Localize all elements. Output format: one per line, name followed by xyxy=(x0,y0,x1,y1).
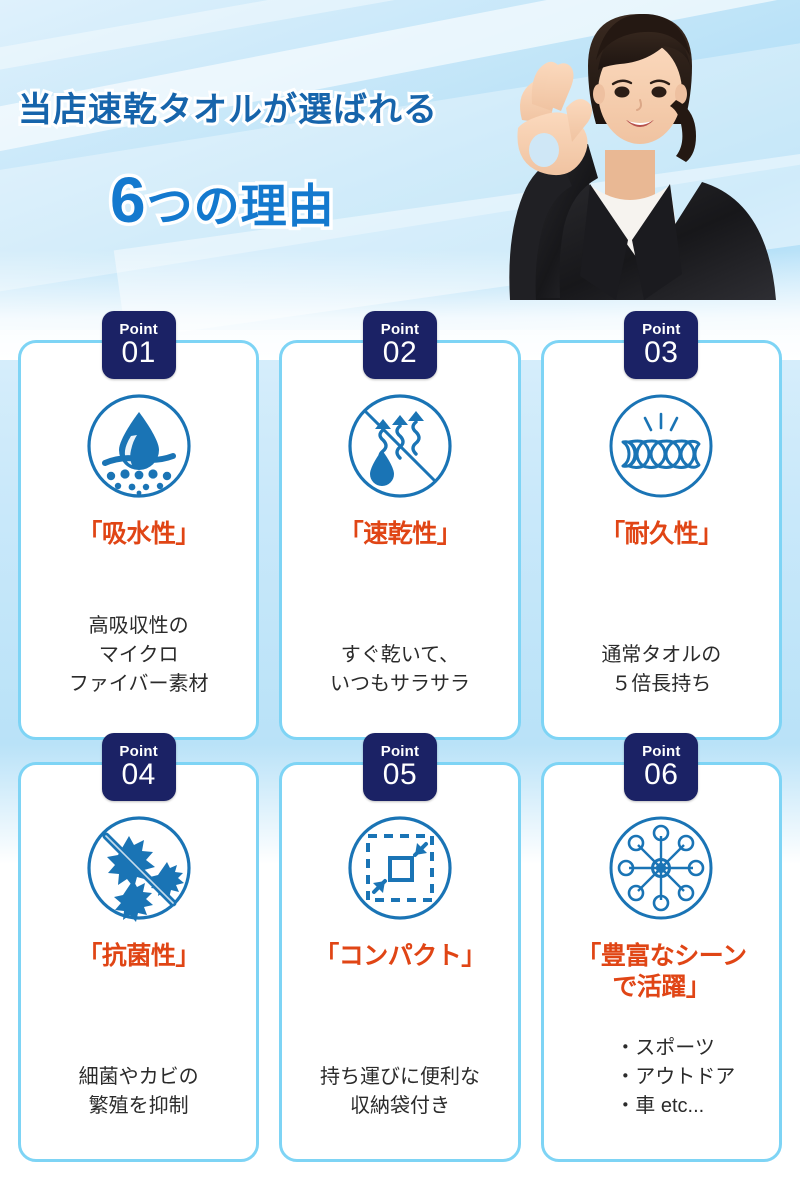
point-badge: Point 03 xyxy=(624,311,698,379)
card-description: 持ち運びに便利な 収納袋付き xyxy=(320,1063,480,1121)
quick-dry-evaporation-icon xyxy=(346,387,454,505)
badge-number: 03 xyxy=(644,338,678,368)
desc-line: ５倍長持ち xyxy=(601,670,721,699)
card-description: 細菌やカビの 繁殖を抑制 xyxy=(79,1063,199,1121)
badge-number: 04 xyxy=(121,760,155,790)
list-item: ・車 etc... xyxy=(615,1092,735,1121)
point-card-04[interactable]: Point 04 「抗菌性」 細菌やカビの 繁殖を抑制 xyxy=(18,762,259,1162)
card-title-line: 「豊富なシーン xyxy=(576,941,746,972)
desc-line: ファイバー素材 xyxy=(69,670,209,699)
desc-line: 繁殖を抑制 xyxy=(79,1092,199,1121)
desc-line: 細菌やカビの xyxy=(79,1063,199,1092)
point-card-05[interactable]: Point 05 「コンパクト」 持ち運びに便利な 収納袋付き xyxy=(279,762,520,1162)
water-absorption-icon xyxy=(85,387,193,505)
badge-label: Point xyxy=(119,322,158,337)
point-badge: Point 04 xyxy=(102,733,176,801)
desc-line: すぐ乾いて、 xyxy=(330,641,470,670)
list-item: ・アウトドア xyxy=(615,1063,735,1092)
card-title: 「吸水性」 xyxy=(77,519,200,550)
headline-line1: 当店速乾タオルが選ばれる xyxy=(18,82,438,131)
card-bullet-list: ・スポーツ ・アウトドア ・車 etc... xyxy=(587,1034,735,1121)
badge-label: Point xyxy=(119,744,158,759)
headline-suffix: つの理由 xyxy=(147,180,335,232)
card-title: 「コンパクト」 xyxy=(314,941,486,972)
card-title: 「速乾性」 xyxy=(339,519,462,550)
card-title: 「豊富なシーン で活躍」 xyxy=(576,941,746,1002)
durability-fabric-icon xyxy=(607,387,715,505)
headline-number: 6 xyxy=(110,164,147,236)
antibacterial-germ-icon xyxy=(85,809,193,927)
compact-shrink-icon xyxy=(346,809,454,927)
desc-line: いつもサラサラ xyxy=(330,670,470,699)
badge-label: Point xyxy=(381,744,420,759)
badge-label: Point xyxy=(642,322,681,337)
desc-line: 高吸収性の xyxy=(69,612,209,641)
point-badge: Point 05 xyxy=(363,733,437,801)
card-description: 高吸収性の マイクロ ファイバー素材 xyxy=(69,612,209,699)
badge-number: 02 xyxy=(383,338,417,368)
card-description: すぐ乾いて、 いつもサラサラ xyxy=(330,641,470,699)
multi-scene-hub-icon xyxy=(607,809,715,927)
badge-number: 01 xyxy=(121,338,155,368)
point-card-06[interactable]: Point 06 xyxy=(541,762,782,1162)
headline-line2: 6つの理由 xyxy=(110,168,335,232)
desc-line: マイクロ xyxy=(69,641,209,670)
desc-line: 収納袋付き xyxy=(320,1092,480,1121)
model-photo xyxy=(470,0,800,320)
desc-line: 通常タオルの xyxy=(601,641,721,670)
point-badge: Point 06 xyxy=(624,733,698,801)
badge-number: 06 xyxy=(644,760,678,790)
card-description: 通常タオルの ５倍長持ち xyxy=(601,641,721,699)
card-title: 「耐久性」 xyxy=(600,519,723,550)
badge-label: Point xyxy=(381,322,420,337)
points-grid: Point 01 「吸水性」 高吸収性の マイクロ ファイバー素材 xyxy=(0,340,800,1162)
desc-line: 持ち運びに便利な xyxy=(320,1063,480,1092)
point-badge: Point 02 xyxy=(363,311,437,379)
badge-number: 05 xyxy=(383,760,417,790)
card-title: 「抗菌性」 xyxy=(77,941,200,972)
list-item: ・スポーツ xyxy=(615,1034,735,1063)
point-badge: Point 01 xyxy=(102,311,176,379)
point-card-01[interactable]: Point 01 「吸水性」 高吸収性の マイクロ ファイバー素材 xyxy=(18,340,259,740)
point-card-03[interactable]: Point 03 「耐久性」 xyxy=(541,340,782,740)
point-card-02[interactable]: Point 02 「速乾性」 すぐ乾いて、 xyxy=(279,340,520,740)
card-title-line: で活躍」 xyxy=(576,972,746,1003)
badge-label: Point xyxy=(642,744,681,759)
